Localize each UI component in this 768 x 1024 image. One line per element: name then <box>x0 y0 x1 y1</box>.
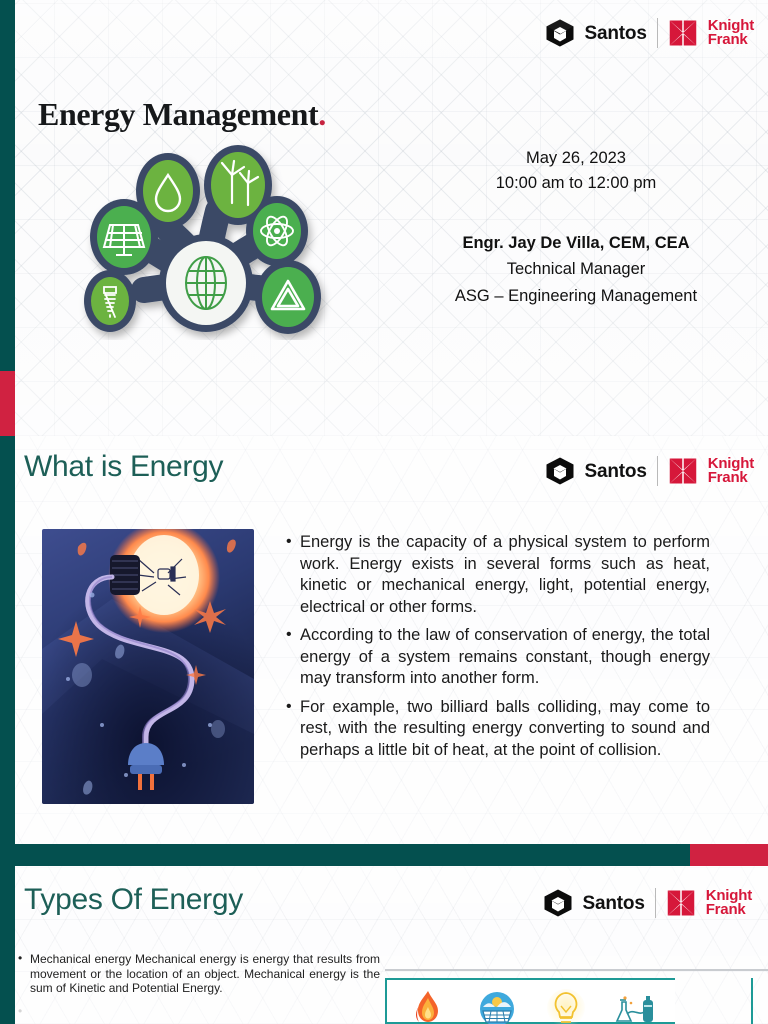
speaker-name: Engr. Jay De Villa, CEM, CEA <box>398 230 754 256</box>
santos-cube-icon <box>543 888 573 918</box>
knight-frank-wordmark: Knight Frank <box>706 889 752 918</box>
knight-frank-wordmark: Knight Frank <box>708 457 754 486</box>
panel-right-edge <box>751 978 753 1024</box>
knight-frank-mark-icon <box>668 457 698 485</box>
panel-top-rule <box>385 969 768 971</box>
santos-knight-frank-logo: Santos Knight Frank <box>545 18 754 48</box>
frank-text: Frank <box>708 469 748 486</box>
event-date: May 26, 2023 <box>398 146 754 171</box>
santos-wordmark: Santos <box>583 894 645 913</box>
knight-frank-wordmark: Knight Frank <box>708 19 754 48</box>
santos-knight-frank-logo-3: Santos Knight Frank <box>543 888 752 918</box>
flame-icon <box>406 988 450 1024</box>
logo-divider <box>655 888 656 918</box>
slide1-title: Energy Management. <box>38 96 326 133</box>
list-item: Energy is the capacity of a physical sys… <box>286 532 710 618</box>
presentation-page: Santos Knight Frank Energy Management. <box>0 0 768 1024</box>
santos-wordmark: Santos <box>585 24 647 43</box>
slide2-title: What is Energy <box>24 450 223 484</box>
frank-text: Frank <box>706 901 746 918</box>
left-accent-bar-teal-3 <box>0 866 15 1024</box>
frank-text: Frank <box>708 31 748 48</box>
globe-icon <box>186 257 226 309</box>
santos-knight-frank-logo-2: Santos Knight Frank <box>545 456 754 486</box>
slide3-bullet-list: Mechanical energy Mechanical energy is e… <box>14 952 380 1005</box>
logo-divider <box>657 18 658 48</box>
santos-cube-icon <box>545 456 575 486</box>
slide-title: Santos Knight Frank Energy Management. <box>0 0 768 436</box>
slide3-title: Types Of Energy <box>24 883 243 917</box>
slide2-bullet-list: Energy is the capacity of a physical sys… <box>286 532 710 768</box>
light-bulb-icon <box>544 988 588 1024</box>
list-item: For example, two billiard balls collidin… <box>286 697 710 762</box>
logo-divider <box>657 456 658 486</box>
chemical-gas-icon <box>613 988 657 1024</box>
knight-frank-mark-icon <box>668 19 698 47</box>
slide-what-is-energy: What is Energy Santos Kni <box>0 436 768 866</box>
glowing-lightbulb-illustration <box>42 529 254 804</box>
slide1-title-period: . <box>318 96 326 132</box>
bottom-accent-bar-teal <box>0 844 768 866</box>
left-accent-bar-red <box>0 371 15 436</box>
bottom-accent-bar-red <box>690 844 768 866</box>
santos-cube-icon <box>545 18 575 48</box>
speaker-role: Technical Manager <box>398 256 754 283</box>
list-item: Mechanical energy Mechanical energy is e… <box>14 952 380 996</box>
left-accent-bar-teal-2 <box>0 436 15 844</box>
knight-frank-mark-icon <box>666 889 696 917</box>
event-time: 10:00 am to 12:00 pm <box>398 171 754 196</box>
list-item: According to the law of conservation of … <box>286 625 710 690</box>
event-details: May 26, 2023 10:00 am to 12:00 pm Engr. … <box>398 146 754 310</box>
solar-panel-sun-icon <box>475 988 519 1024</box>
santos-wordmark: Santos <box>585 462 647 481</box>
slide1-title-text: Energy Management <box>38 96 318 132</box>
energy-types-icon-panel <box>385 978 675 1024</box>
speaker-department: ASG – Engineering Management <box>398 283 754 310</box>
energy-hub-diagram <box>72 135 340 340</box>
left-accent-bar-teal <box>0 0 15 371</box>
